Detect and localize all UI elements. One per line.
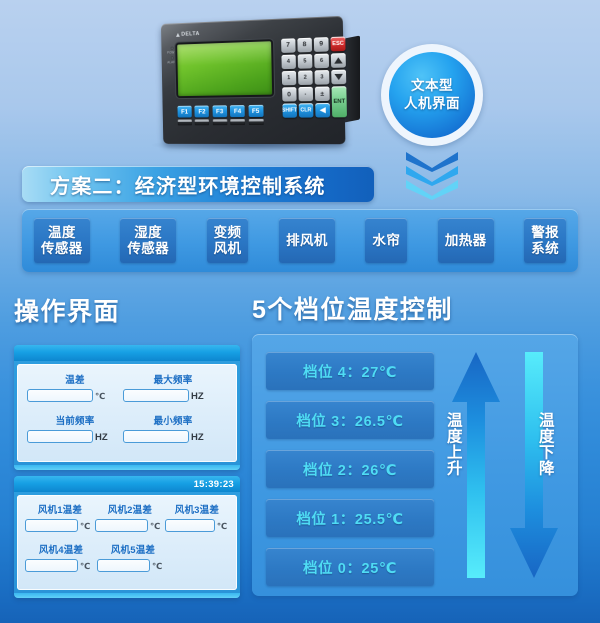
key-up-arrow[interactable] [331,53,346,67]
chevron-group [402,150,462,206]
up-arrow-icon [334,57,343,63]
field-fan5-temp-difference: 风机5温差 ℃ [97,542,169,572]
temperature-rise-label: 温度上升 [444,412,461,476]
gear-level-0[interactable]: 档位 0：25℃ [266,548,434,586]
component-heater[interactable]: 加热器 [438,218,494,263]
panel-title-bar: 15:39:23 [14,476,240,492]
operation-section-heading: 操作界面 [14,292,120,328]
panel-screen-body: 风机1温差 ℃ 风机2温差 ℃ 风机3温差 [17,495,237,590]
component-humidity-sensor[interactable]: 湿度 传感器 [120,218,176,263]
unit-celsius: ℃ [150,521,160,532]
key-4[interactable]: 4 [281,55,295,69]
scheme-title: 方案二：经济型环境控制系统 [50,170,326,199]
unit-hz: HZ [191,391,204,402]
key-7[interactable]: 7 [281,38,295,52]
field-temp-difference: 温差 ℃ [27,372,123,402]
fan3-temp-difference-input[interactable] [165,519,215,532]
field-fan4-temp-difference: 风机4温差 ℃ [25,542,97,572]
component-alarm-system[interactable]: 警报 系统 [524,218,566,263]
function-key-f3[interactable]: F3 [212,105,227,125]
hmi-device: DELTA POWER ALARM F1 F2 F3 F4 F5 7 8 9 E… [146,14,361,154]
key-3[interactable]: 3 [315,70,329,84]
operation-panel-frequency: 温差 ℃ 最大频率 HZ 当前频率 [14,345,240,470]
key-0[interactable]: 0 [282,87,296,101]
gear-list: 档位 4：27℃ 档位 3：26.5℃ 档位 2：26℃ 档位 1：25.5℃ … [266,352,434,586]
key-down-arrow[interactable] [332,70,347,84]
fan4-temp-difference-input[interactable] [25,559,78,572]
component-list: 温度 传感器 湿度 传感器 变频 风机 排风机 水帘 加热器 警报 系统 [22,209,578,272]
field-fan3-temp-difference: 风机3温差 ℃ [165,502,229,532]
min-frequency-input[interactable] [123,430,189,443]
function-key-f4[interactable]: F4 [230,105,245,125]
key-ent[interactable]: ENT [332,86,347,117]
current-frequency-input[interactable] [27,430,93,443]
badge-inner: 文本型 人机界面 [389,52,475,138]
key-5[interactable]: 5 [298,54,312,68]
lcd-screen [177,41,272,96]
hmi-type-badge: 文本型 人机界面 [381,44,483,146]
fan1-temp-difference-input[interactable] [25,519,78,532]
gear-section-heading: 5个档位温度控制 [252,290,453,326]
unit-celsius: ℃ [80,521,90,532]
alarm-led [171,56,174,59]
field-row: 风机4温差 ℃ 风机5温差 ℃ [25,542,229,572]
backspace-arrow-icon [319,107,325,113]
function-key-f1[interactable]: F1 [177,106,191,126]
key-8[interactable]: 8 [297,38,311,52]
field-row: 当前频率 HZ 最小频率 HZ [27,413,227,443]
key-clr[interactable]: CLR [299,104,313,118]
down-arrow-icon [334,74,343,80]
gear-temperature-panel: 档位 4：27℃ 档位 3：26.5℃ 档位 2：26℃ 档位 1：25.5℃ … [252,334,578,596]
field-current-frequency: 当前频率 HZ [27,413,123,443]
gear-level-1[interactable]: 档位 1：25.5℃ [266,499,434,537]
key-backspace[interactable] [315,103,329,117]
key-plus-minus[interactable]: ± [315,87,329,101]
gear-section-heading-wrap: 5个档位温度控制 [252,290,453,326]
operation-section-heading-wrap: 操作界面 [14,292,120,328]
unit-celsius: ℃ [95,391,105,402]
field-min-frequency: 最小频率 HZ [123,413,223,443]
field-row: 温差 ℃ 最大频率 HZ [27,372,227,402]
key-6[interactable]: 6 [314,54,328,68]
badge-line-1: 文本型 [411,77,453,95]
field-fan1-temp-difference: 风机1温差 ℃ [25,502,95,532]
numeric-keypad: 7 8 9 ESC 4 5 6 1 2 3 0 · ± ENT SHIFT CL… [281,36,347,117]
operation-panel-fan-diff: 15:39:23 风机1温差 ℃ 风机2温差 ℃ [14,476,240,598]
panel-footer-strip [14,593,240,598]
unit-hz: HZ [95,432,108,443]
key-shift[interactable]: SHIFT [282,104,296,118]
key-esc[interactable]: ESC [331,36,346,50]
field-max-frequency: 最大频率 HZ [123,372,223,402]
badge-line-2: 人机界面 [404,95,460,113]
field-row: 风机1温差 ℃ 风机2温差 ℃ 风机3温差 [25,502,229,532]
key-decimal-point[interactable]: · [298,87,312,101]
delta-logo: DELTA [176,31,200,38]
component-temperature-sensor[interactable]: 温度 传感器 [34,218,90,263]
device-front-panel: DELTA POWER ALARM F1 F2 F3 F4 F5 7 8 9 E… [161,16,345,144]
panel-timestamp: 15:39:23 [194,479,234,490]
unit-celsius: ℃ [152,561,162,572]
infographic-root: DELTA POWER ALARM F1 F2 F3 F4 F5 7 8 9 E… [0,0,600,623]
temp-difference-input[interactable] [27,389,93,402]
component-exhaust-fan[interactable]: 排风机 [279,218,335,263]
alarm-led-label: ALARM [167,60,178,64]
panel-footer-strip [14,465,240,470]
function-key-f2[interactable]: F2 [195,106,210,126]
max-frequency-input[interactable] [123,389,189,402]
component-water-curtain[interactable]: 水帘 [365,218,407,263]
function-key-row: F1 F2 F3 F4 F5 [177,105,263,126]
gear-level-4[interactable]: 档位 4：27℃ [266,352,434,390]
unit-celsius: ℃ [217,521,227,532]
temperature-drop-label: 温度下降 [536,412,553,476]
field-fan2-temp-difference: 风机2温差 ℃ [95,502,165,532]
key-2[interactable]: 2 [298,71,312,85]
panel-screen-body: 温差 ℃ 最大频率 HZ 当前频率 [17,364,237,462]
key-1[interactable]: 1 [282,71,296,85]
fan2-temp-difference-input[interactable] [95,519,148,532]
gear-level-3[interactable]: 档位 3：26.5℃ [266,401,434,439]
unit-hz: HZ [191,432,204,443]
panel-title-bar [14,345,240,361]
chevron-down-icon [402,178,462,200]
scheme-title-banner: 方案二：经济型环境控制系统 [22,166,374,202]
component-variable-frequency-fan[interactable]: 变频 风机 [207,218,249,263]
function-key-f5[interactable]: F5 [248,105,263,125]
power-led [171,47,174,50]
fan5-temp-difference-input[interactable] [97,559,150,572]
key-9[interactable]: 9 [314,37,328,51]
gear-level-2[interactable]: 档位 2：26℃ [266,450,434,488]
unit-celsius: ℃ [80,561,90,572]
